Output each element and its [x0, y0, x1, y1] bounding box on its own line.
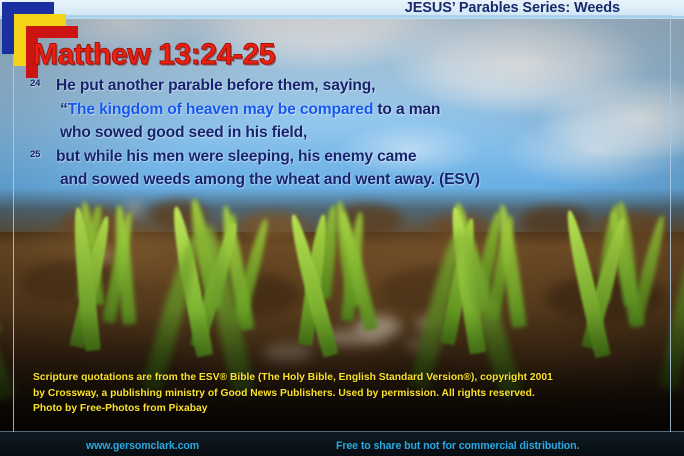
website-link[interactable]: www.gersomclark.com: [86, 440, 199, 452]
credit-line-3: Photo by Free-Photos from Pixabay: [33, 401, 633, 417]
verse-line: and sowed weeds among the wheat and went…: [30, 168, 630, 192]
verse-number: 25: [30, 149, 40, 161]
verse-text-pre: He put another parable before them, sayi…: [56, 77, 375, 94]
corner-bar-blue-vertical: [2, 2, 14, 54]
copyright-credit-block: Scripture quotations are from the ESV® B…: [33, 370, 633, 417]
corner-bar-yellow-vertical: [14, 14, 26, 66]
scripture-reference: Matthew 13:24-25: [33, 38, 275, 72]
scripture-slide: JESUS’ Parables Series: Weeds: [0, 0, 684, 456]
bottom-bar: www.gersomclark.com Free to share but no…: [0, 432, 684, 456]
verse-text: and sowed weeds among the wheat and went…: [60, 168, 480, 192]
verse-text-highlight: The kingdom of heaven may be compared: [68, 101, 374, 118]
verse-line: who sowed good seed in his field,: [30, 121, 630, 145]
verse-text-pre: but while his men were sleeping, his ene…: [56, 148, 416, 165]
verse-text-post: to a man: [373, 101, 440, 118]
verse-text-pre: and sowed weeds among the wheat and went…: [60, 171, 480, 188]
credit-line-2: by Crossway, a publishing ministry of Go…: [33, 386, 633, 402]
credit-line-1: Scripture quotations are from the ESV® B…: [33, 370, 633, 386]
verse-text: “The kingdom of heaven may be compared t…: [60, 98, 440, 122]
verse-text: but while his men were sleeping, his ene…: [56, 145, 416, 169]
scripture-verses: 24 He put another parable before them, s…: [30, 74, 630, 192]
bokeh-highlight: [264, 344, 312, 362]
verse-text: He put another parable before them, sayi…: [56, 74, 375, 98]
verse-line: 25 but while his men were sleeping, his …: [30, 145, 630, 169]
series-title: JESUS’ Parables Series: Weeds: [405, 0, 620, 17]
verse-line: “The kingdom of heaven may be compared t…: [30, 98, 630, 122]
share-notice: Free to share but not for commercial dis…: [336, 440, 579, 452]
verse-text-pre: “: [60, 101, 68, 118]
verse-line: 24 He put another parable before them, s…: [30, 74, 630, 98]
verse-text-pre: who sowed good seed in his field,: [60, 124, 307, 141]
verse-number: 24: [30, 78, 40, 90]
verse-text: who sowed good seed in his field,: [60, 121, 307, 145]
